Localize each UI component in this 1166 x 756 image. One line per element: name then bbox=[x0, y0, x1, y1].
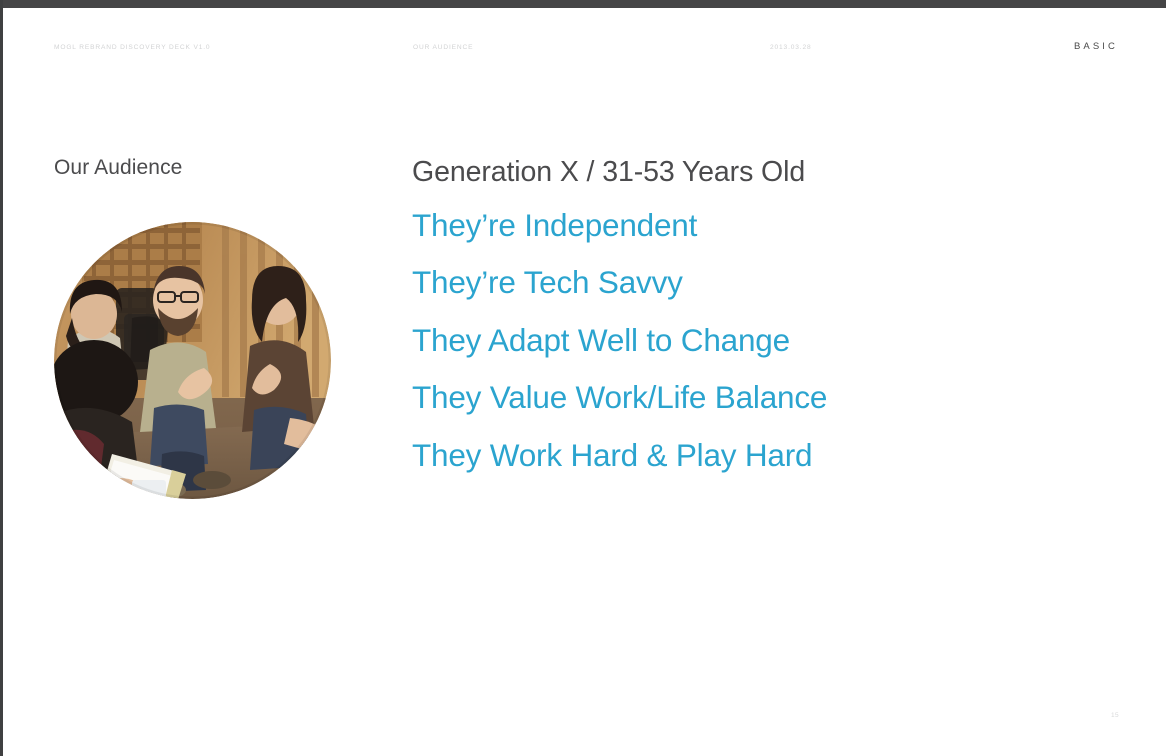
slide-header: MOGL REBRAND DISCOVERY DECK V1.0 OUR AUD… bbox=[0, 41, 1166, 57]
audience-photo-illustration bbox=[54, 222, 331, 499]
header-section-label: OUR AUDIENCE bbox=[413, 45, 473, 52]
audience-photo bbox=[54, 222, 331, 499]
trait-item: They’re Independent bbox=[412, 210, 1112, 242]
basic-logo: BASIC bbox=[1074, 42, 1118, 52]
header-deck-title: MOGL REBRAND DISCOVERY DECK V1.0 bbox=[54, 45, 210, 52]
trait-list: They’re Independent They’re Tech Savvy T… bbox=[412, 210, 1112, 472]
main-content: Generation X / 31-53 Years Old They’re I… bbox=[412, 158, 1112, 471]
trait-item: They Work Hard & Play Hard bbox=[412, 440, 1112, 472]
header-date: 2013.03.28 bbox=[770, 45, 812, 52]
window-top-bar bbox=[0, 0, 1166, 8]
page-number: 15 bbox=[1111, 713, 1119, 720]
trait-item: They’re Tech Savvy bbox=[412, 267, 1112, 299]
trait-item: They Adapt Well to Change bbox=[412, 325, 1112, 357]
window-left-edge bbox=[0, 0, 3, 756]
slide: MOGL REBRAND DISCOVERY DECK V1.0 OUR AUD… bbox=[0, 0, 1166, 756]
headline: Generation X / 31-53 Years Old bbox=[412, 158, 1112, 187]
trait-item: They Value Work/Life Balance bbox=[412, 382, 1112, 414]
page-title: Our Audience bbox=[54, 155, 354, 180]
left-column: Our Audience bbox=[54, 155, 354, 180]
